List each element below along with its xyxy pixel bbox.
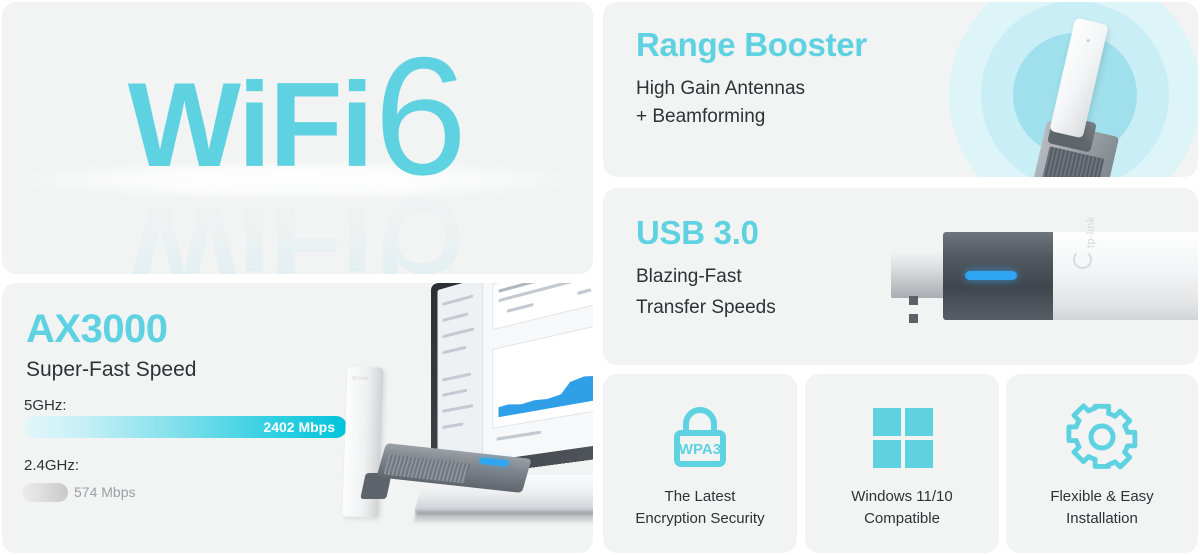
feature-card-installation-line1: Flexible & Easy — [1006, 486, 1198, 508]
wifi6-panel: WiFi 6 WiFi 6 — [2, 2, 593, 274]
feature-card-encryption-line2: Encryption Security — [603, 508, 797, 530]
feature-card-encryption-label: The Latest Encryption Security — [603, 486, 797, 530]
feature-card-windows-label: Windows 11/10 Compatible — [805, 486, 999, 530]
range-booster-line2: + Beamforming — [636, 107, 765, 126]
screen-chart — [493, 320, 593, 428]
usb3-line1: Blazing-Fast — [636, 267, 742, 286]
gear-icon — [1065, 400, 1139, 474]
feature-card-windows: Windows 11/10 Compatible — [805, 374, 999, 553]
feature-card-encryption: WPA3 The Latest Encryption Security — [603, 374, 797, 553]
usb-connector-pin — [909, 314, 918, 323]
wifi6-logo-word: WiFi — [128, 65, 372, 185]
ax3000-subtitle: Super-Fast Speed — [26, 359, 196, 380]
padlock-wpa3-icon: WPA3 — [663, 400, 737, 474]
wifi6-reflection-word: WiFi — [128, 189, 372, 274]
laptop-shadow — [413, 511, 593, 523]
feature-card-windows-line2: Compatible — [805, 508, 999, 530]
range-booster-device — [1030, 20, 1150, 177]
laptop-adapter-photo: tp-link — [323, 283, 593, 553]
range-booster-line1: High Gain Antennas — [636, 79, 805, 98]
range-booster-panel: Range Booster High Gain Antennas + Beamf… — [603, 2, 1198, 177]
range-booster-title: Range Booster — [636, 28, 867, 61]
feature-card-installation-label: Flexible & Easy Installation — [1006, 486, 1198, 530]
feature-card-installation: Flexible & Easy Installation — [1006, 374, 1198, 553]
product-feature-collage: WiFi 6 WiFi 6 AX3000 Super-Fast Speed 5G… — [0, 0, 1200, 555]
windows-logo-icon — [865, 400, 939, 474]
rb-antenna-dot — [1086, 39, 1090, 43]
band-label-24ghz: 2.4GHz: — [24, 458, 79, 473]
screen-chart-area — [498, 369, 593, 418]
feature-card-installation-line2: Installation — [1006, 508, 1198, 530]
usb-led-indicator — [965, 271, 1017, 280]
tp-link-mark-icon — [1073, 250, 1092, 269]
feature-card-windows-line1: Windows 11/10 — [805, 486, 999, 508]
usb3-panel: USB 3.0 Blazing-Fast Transfer Speeds tp-… — [603, 188, 1198, 365]
feature-card-encryption-line1: The Latest — [603, 486, 797, 508]
wifi6-logo-area: WiFi 6 WiFi 6 — [2, 2, 593, 274]
usb-connector-pin — [909, 296, 918, 305]
speed-value-24ghz: 574 Mbps — [74, 485, 135, 499]
ax3000-panel: AX3000 Super-Fast Speed 5GHz: 2402 Mbps … — [2, 283, 593, 553]
screen-sidebar — [438, 283, 483, 468]
band-label-5ghz: 5GHz: — [24, 398, 67, 413]
usb3-line2: Transfer Speeds — [636, 298, 776, 317]
usb-adapter-graphic: tp-link — [891, 218, 1198, 338]
usb3-title: USB 3.0 — [636, 216, 759, 249]
ax3000-title: AX3000 — [26, 309, 168, 349]
wifi6-logo: WiFi 6 — [128, 24, 468, 192]
usb-connector — [891, 252, 947, 298]
tp-link-wordmark: tp-link — [1085, 217, 1097, 248]
speed-bar-5ghz: 2402 Mbps — [24, 416, 347, 438]
laptop-screen — [438, 283, 593, 468]
usb-body-light: tp-link — [1053, 232, 1198, 320]
speed-bar-24ghz — [22, 483, 68, 502]
adapter-antenna-logo: tp-link — [352, 376, 368, 383]
wpa3-badge-text: WPA3 — [679, 441, 721, 458]
wifi6-logo-number: 6 — [374, 32, 467, 200]
rb-device-antenna — [1049, 18, 1108, 139]
